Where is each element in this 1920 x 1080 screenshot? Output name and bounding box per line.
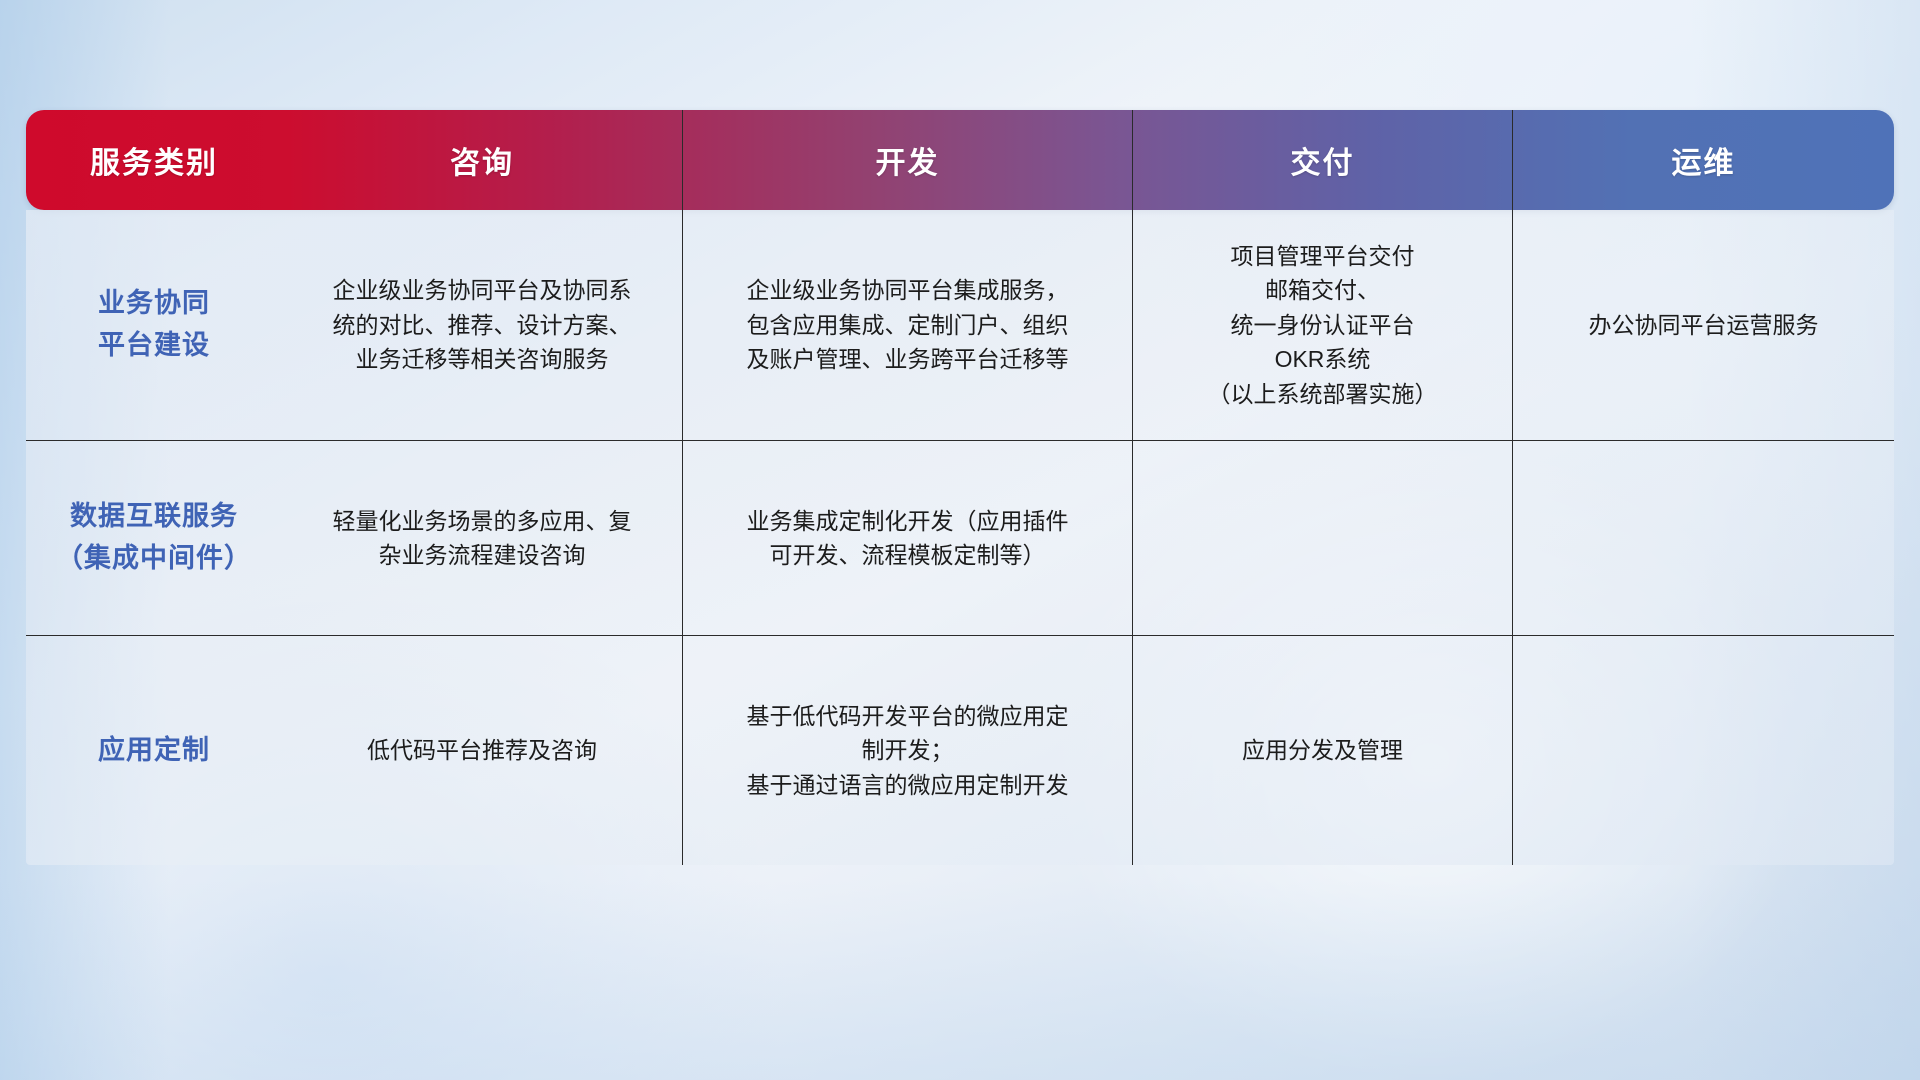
table-row: 应用定制 低代码平台推荐及咨询 基于低代码开发平台的微应用定 制开发； 基于通过… bbox=[26, 635, 1894, 865]
row-category-label: 业务协同 平台建设 bbox=[26, 210, 282, 440]
table-header-row: 服务类别 咨询 开发 交付 运维 bbox=[26, 110, 1894, 210]
cell-development: 业务集成定制化开发（应用插件 可开发、流程模板定制等） bbox=[682, 441, 1132, 635]
cell-delivery: 项目管理平台交付 邮箱交付、 统一身份认证平台 OKR系统 （以上系统部署实施） bbox=[1132, 210, 1512, 440]
cell-development: 基于低代码开发平台的微应用定 制开发； 基于通过语言的微应用定制开发 bbox=[682, 636, 1132, 865]
cell-operations bbox=[1512, 441, 1894, 635]
row-category-label: 应用定制 bbox=[26, 636, 282, 865]
service-matrix-table: 服务类别 咨询 开发 交付 运维 业务协同 平台建设 企业级业务协同平台及协同系… bbox=[26, 110, 1894, 865]
slide-canvas: 服务类别 咨询 开发 交付 运维 业务协同 平台建设 企业级业务协同平台及协同系… bbox=[0, 0, 1920, 1080]
column-header-delivery: 交付 bbox=[1132, 110, 1512, 210]
column-header-development: 开发 bbox=[682, 110, 1132, 210]
cell-development: 企业级业务协同平台集成服务， 包含应用集成、定制门户、组织 及账户管理、业务跨平… bbox=[682, 210, 1132, 440]
row-category-label: 数据互联服务 （集成中间件） bbox=[26, 441, 282, 635]
column-header-consulting: 咨询 bbox=[282, 110, 682, 210]
cell-delivery bbox=[1132, 441, 1512, 635]
column-header-category: 服务类别 bbox=[26, 110, 282, 210]
cell-operations: 办公协同平台运营服务 bbox=[1512, 210, 1894, 440]
table-row: 业务协同 平台建设 企业级业务协同平台及协同系 统的对比、推荐、设计方案、 业务… bbox=[26, 210, 1894, 440]
column-header-operations: 运维 bbox=[1512, 110, 1894, 210]
cell-delivery: 应用分发及管理 bbox=[1132, 636, 1512, 865]
cell-operations bbox=[1512, 636, 1894, 865]
table-row: 数据互联服务 （集成中间件） 轻量化业务场景的多应用、复 杂业务流程建设咨询 业… bbox=[26, 440, 1894, 635]
cell-consulting: 轻量化业务场景的多应用、复 杂业务流程建设咨询 bbox=[282, 441, 682, 635]
table-body: 业务协同 平台建设 企业级业务协同平台及协同系 统的对比、推荐、设计方案、 业务… bbox=[26, 210, 1894, 865]
cell-consulting: 低代码平台推荐及咨询 bbox=[282, 636, 682, 865]
cell-consulting: 企业级业务协同平台及协同系 统的对比、推荐、设计方案、 业务迁移等相关咨询服务 bbox=[282, 210, 682, 440]
